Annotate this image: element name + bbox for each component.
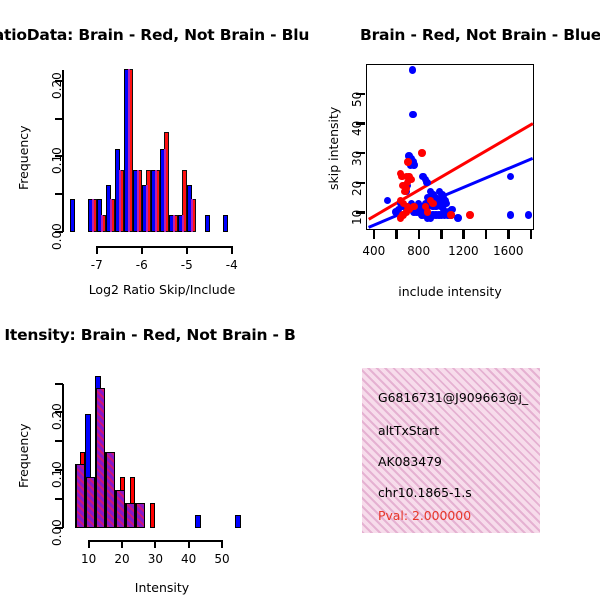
x-axis-tick	[418, 230, 421, 239]
x-axis-tick	[373, 230, 376, 239]
histogram-bar-overlap	[126, 503, 135, 528]
histogram-bar-overlap	[173, 215, 175, 232]
intensity-histogram-title: ne Itensity: Brain - Red, Not Brain - B	[0, 326, 296, 344]
x-axis-tick	[221, 540, 223, 548]
y-axis-tick-label: 0.10	[50, 462, 64, 489]
y-axis-tick-label: 50	[350, 91, 364, 106]
scatter-clip	[366, 64, 534, 230]
annotation-line: AK083479	[378, 454, 442, 469]
histogram-bar-overlap	[164, 149, 166, 232]
annotation-pval: Pval: 2.000000	[378, 508, 471, 523]
scatter-point	[507, 211, 515, 219]
x-axis-tick-label: 50	[202, 552, 242, 566]
y-axis-tick	[55, 383, 63, 385]
scatter-point	[397, 214, 405, 222]
x-axis-tick	[530, 230, 533, 239]
histogram-bar-overlap	[128, 69, 130, 232]
scatter-point	[429, 200, 437, 208]
histogram-bar-overlap	[116, 490, 125, 528]
histogram-bar-overlap	[155, 170, 157, 232]
x-axis-tick-label: 1600	[486, 244, 530, 258]
scatter-point	[422, 203, 430, 211]
scatter-point	[409, 66, 417, 74]
y-axis-tick-label: 20	[350, 180, 364, 195]
y-axis-tick-label: 40	[350, 121, 364, 136]
x-axis-tick-label: 1200	[441, 244, 485, 258]
scatter-point	[525, 211, 533, 219]
annotation-line: G6816731@J909663@j_	[378, 390, 528, 405]
annotation-lines: G6816731@J909663@j_altTxStartAK083479chr…	[362, 368, 540, 533]
scatter-point	[423, 179, 431, 187]
histogram-bar-overlap	[110, 199, 112, 232]
scatter-point	[442, 200, 450, 208]
histogram-bar	[223, 215, 228, 232]
annotation-info-box: G6816731@J909663@j_altTxStartAK083479chr…	[362, 368, 540, 533]
scatter-point	[384, 197, 392, 205]
scatter-point	[418, 149, 426, 157]
x-axis-tick	[395, 230, 398, 239]
x-axis-tick	[440, 230, 443, 239]
x-axis-tick	[507, 230, 510, 239]
scatter-point	[401, 188, 409, 196]
annotation-line: altTxStart	[378, 423, 439, 438]
x-axis-tick-label: 400	[352, 244, 396, 258]
scatter-point	[507, 173, 515, 181]
x-axis-tick	[188, 540, 190, 548]
scatter-point	[466, 211, 474, 219]
histogram-bar	[70, 199, 75, 232]
histogram-bar-overlap	[92, 199, 94, 232]
histogram-bar-overlap	[182, 215, 184, 232]
x-axis-tick	[121, 540, 123, 548]
scatter-point	[454, 214, 462, 222]
intensity-histogram-ylabel: Frequency	[16, 423, 31, 488]
histogram-bar	[195, 515, 201, 528]
histogram-bar-overlap	[146, 185, 148, 232]
y-axis-tick-label: 0.00	[50, 519, 64, 546]
histogram-bar	[205, 215, 210, 232]
histogram-bar-overlap	[119, 170, 121, 232]
histogram-bar-overlap	[101, 215, 103, 232]
y-axis-tick	[55, 440, 63, 442]
x-axis-tick	[88, 540, 90, 548]
histogram-bar-overlap	[106, 452, 115, 528]
x-axis-tick-label: 800	[397, 244, 441, 258]
x-axis-tick	[485, 230, 488, 239]
y-axis-tick-label: 10	[350, 210, 364, 225]
intensity-histogram-xlabel: Intensity	[72, 580, 252, 595]
scatter-point	[404, 158, 412, 166]
histogram-bar-overlap	[137, 170, 139, 232]
histogram-bar	[235, 515, 241, 528]
x-axis-tick	[462, 230, 465, 239]
scatter-point	[410, 203, 418, 211]
y-axis-tick-label: 30	[350, 151, 364, 166]
x-axis-tick	[154, 540, 156, 548]
scatter-point	[438, 191, 446, 199]
y-axis-tick-label: 0.20	[50, 404, 64, 431]
scatter-point	[409, 111, 417, 119]
annotation-line: chr10.1865-1.s	[378, 485, 472, 500]
histogram-bar-overlap	[191, 199, 193, 232]
histogram-bar	[150, 503, 156, 528]
y-axis-tick	[55, 498, 63, 500]
histogram-bar-overlap	[86, 477, 95, 528]
histogram-bar-overlap	[96, 388, 105, 528]
histogram-bar-overlap	[76, 464, 85, 528]
histogram-bar-overlap	[136, 503, 145, 528]
scatter-point	[447, 211, 455, 219]
